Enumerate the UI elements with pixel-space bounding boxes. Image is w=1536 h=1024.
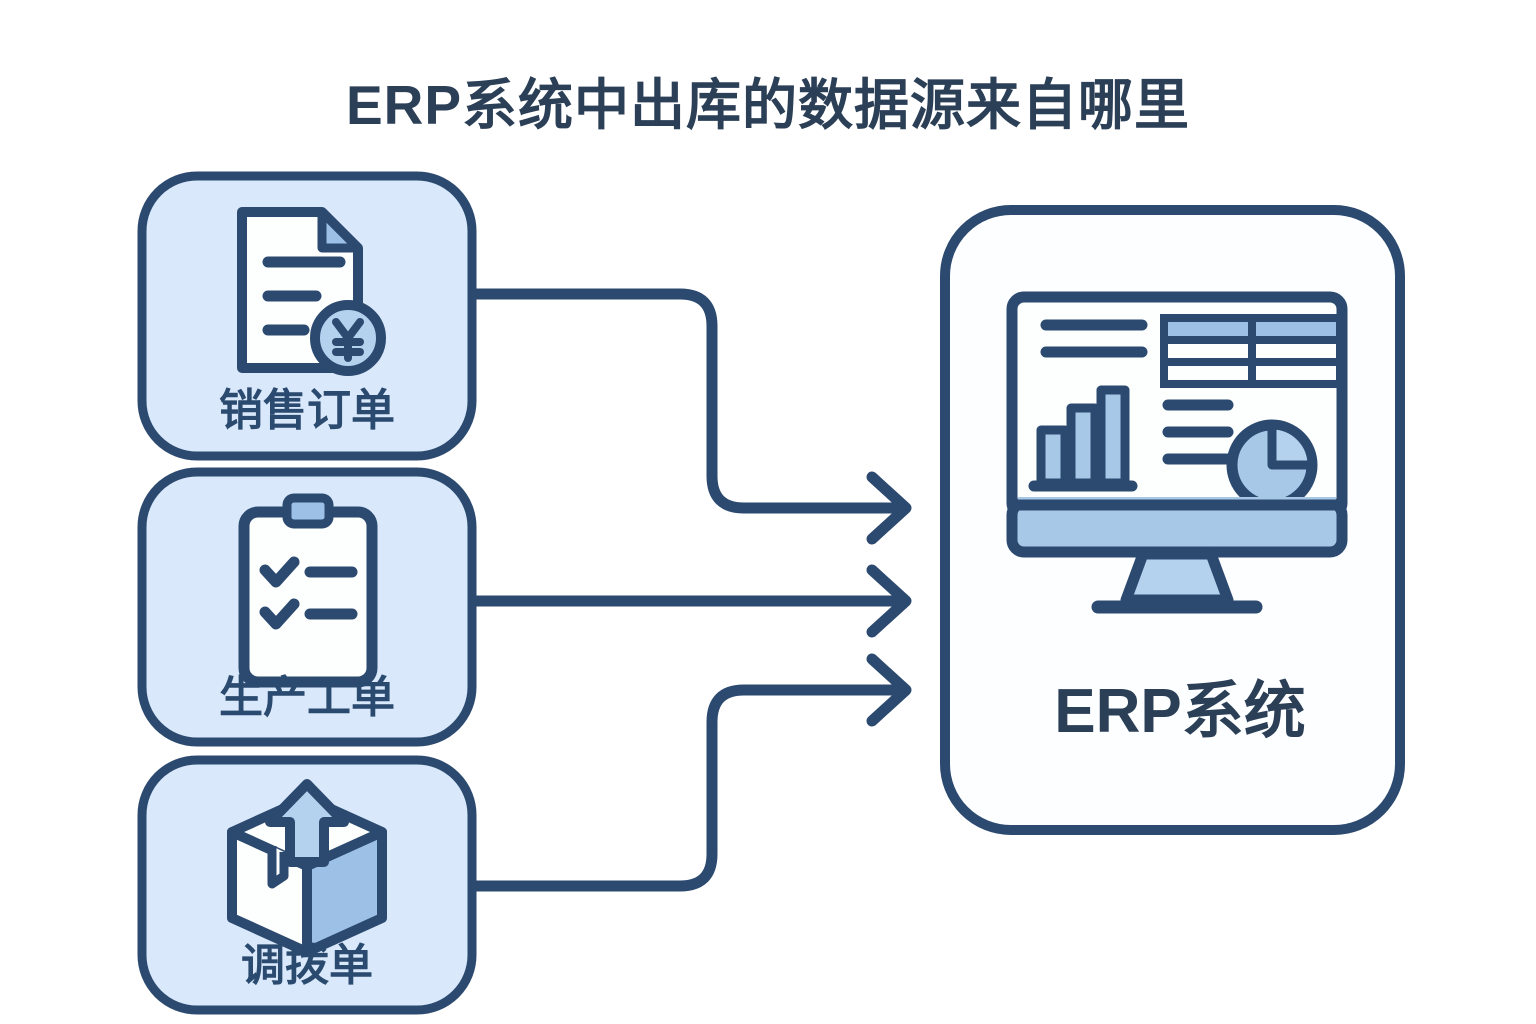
card-label-erp-system: ERP系统 — [1054, 677, 1305, 746]
dashboard-pie-chart — [1232, 425, 1312, 505]
card-label-transfer-order: 调拨单 — [241, 941, 373, 990]
connector-transfer-order-to-erp — [468, 690, 905, 886]
source-card-sales-order[interactable]: 销售订单 — [142, 176, 472, 456]
box-flap — [272, 846, 284, 884]
clipboard-checklist-icon — [244, 498, 372, 682]
source-card-transfer-order[interactable]: 调拨单 — [142, 760, 472, 1010]
target-card-erp-system[interactable]: ERP系统 — [945, 210, 1400, 830]
connector-group — [468, 294, 906, 886]
connector-sales-order-to-erp — [468, 294, 905, 508]
clipboard-clip — [287, 498, 329, 524]
flow-diagram: 销售订单 生产工单 — [0, 0, 1536, 1024]
card-label-sales-order: 销售订单 — [219, 386, 395, 435]
diagram-canvas: ERP系统中出库的数据源来自哪里 — [0, 0, 1536, 1024]
dashboard-table — [1164, 318, 1340, 384]
clipboard-board — [244, 512, 372, 682]
source-card-production-work-order[interactable]: 生产工单 — [142, 472, 472, 742]
monitor-stand — [1126, 554, 1228, 600]
card-label-production-work-order: 生产工单 — [219, 673, 395, 722]
